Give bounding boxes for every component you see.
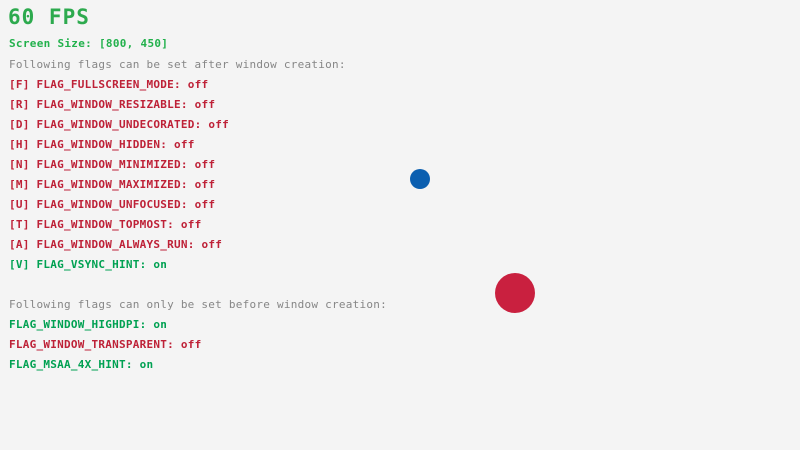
flag-hotkey: [M] (9, 178, 37, 191)
flag-value: off (195, 198, 216, 211)
window-canvas[interactable]: 60 FPS Screen Size: [800, 450] Following… (0, 0, 800, 450)
flag-name: FLAG_WINDOW_UNDECORATED: (37, 118, 209, 131)
flag-value: off (181, 218, 202, 231)
flag-value: off (208, 118, 229, 131)
flag-row-flag-window-always-run[interactable]: [A] FLAG_WINDOW_ALWAYS_RUN: off (9, 238, 222, 251)
flag-row-flag-vsync-hint[interactable]: [V] FLAG_VSYNC_HINT: on (9, 258, 167, 271)
flag-name: FLAG_WINDOW_TOPMOST: (37, 218, 181, 231)
flag-row-flag-window-resizable[interactable]: [R] FLAG_WINDOW_RESIZABLE: off (9, 98, 215, 111)
flag-row-flag-window-transparent: FLAG_WINDOW_TRANSPARENT: off (9, 338, 201, 351)
flag-row-flag-window-undecorated[interactable]: [D] FLAG_WINDOW_UNDECORATED: off (9, 118, 229, 131)
flag-value: off (195, 158, 216, 171)
ball-blue (410, 169, 430, 189)
flag-name: FLAG_WINDOW_TRANSPARENT: (9, 338, 181, 351)
flag-value: on (153, 318, 167, 331)
flag-row-flag-window-highdpi: FLAG_WINDOW_HIGHDPI: on (9, 318, 167, 331)
flag-value: off (195, 178, 216, 191)
flag-name: FLAG_WINDOW_HIGHDPI: (9, 318, 153, 331)
flag-value: off (201, 238, 222, 251)
flag-name: FLAG_MSAA_4X_HINT: (9, 358, 140, 371)
flag-value: off (181, 338, 202, 351)
flag-row-flag-window-topmost[interactable]: [T] FLAG_WINDOW_TOPMOST: off (9, 218, 201, 231)
flag-name: FLAG_WINDOW_HIDDEN: (37, 138, 174, 151)
flag-value: off (195, 98, 216, 111)
flag-row-flag-window-unfocused[interactable]: [U] FLAG_WINDOW_UNFOCUSED: off (9, 198, 215, 211)
flag-value: on (140, 358, 154, 371)
flag-value: on (153, 258, 167, 271)
flag-name: FLAG_WINDOW_RESIZABLE: (37, 98, 195, 111)
flag-row-flag-window-maximized[interactable]: [M] FLAG_WINDOW_MAXIMIZED: off (9, 178, 215, 191)
flag-hotkey: [N] (9, 158, 37, 171)
flag-row-flag-fullscreen-mode[interactable]: [F] FLAG_FULLSCREEN_MODE: off (9, 78, 208, 91)
flag-name: FLAG_WINDOW_MAXIMIZED: (37, 178, 195, 191)
flag-hotkey: [V] (9, 258, 37, 271)
flag-name: FLAG_WINDOW_ALWAYS_RUN: (37, 238, 202, 251)
flag-row-flag-window-hidden[interactable]: [H] FLAG_WINDOW_HIDDEN: off (9, 138, 195, 151)
flag-value: off (188, 78, 209, 91)
flag-row-flag-window-minimized[interactable]: [N] FLAG_WINDOW_MINIMIZED: off (9, 158, 215, 171)
screen-size-label: Screen Size: [800, 450] (9, 37, 168, 50)
flag-hotkey: [A] (9, 238, 37, 251)
flag-value: off (174, 138, 195, 151)
flag-hotkey: [D] (9, 118, 37, 131)
flag-name: FLAG_WINDOW_UNFOCUSED: (37, 198, 195, 211)
after-creation-section-header: Following flags can be set after window … (9, 58, 346, 71)
flag-row-flag-msaa-4x-hint: FLAG_MSAA_4X_HINT: on (9, 358, 153, 371)
flag-hotkey: [H] (9, 138, 37, 151)
flag-hotkey: [R] (9, 98, 37, 111)
ball-red (495, 273, 535, 313)
flag-name: FLAG_VSYNC_HINT: (37, 258, 154, 271)
fps-counter: 60 FPS (8, 5, 90, 30)
flag-name: FLAG_WINDOW_MINIMIZED: (37, 158, 195, 171)
flag-name: FLAG_FULLSCREEN_MODE: (37, 78, 188, 91)
before-creation-section-header: Following flags can only be set before w… (9, 298, 387, 311)
flag-hotkey: [U] (9, 198, 37, 211)
flag-hotkey: [T] (9, 218, 37, 231)
flag-hotkey: [F] (9, 78, 37, 91)
